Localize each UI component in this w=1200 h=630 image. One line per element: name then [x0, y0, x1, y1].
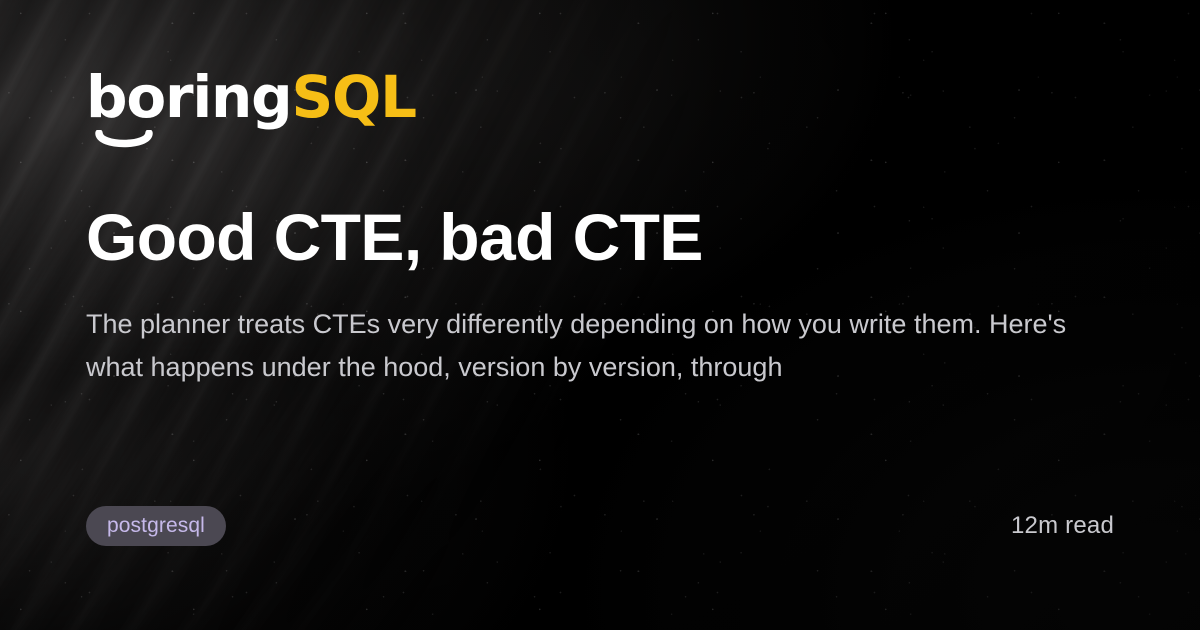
brand-name-primary: boring: [86, 63, 291, 131]
brand-logo-text: boringSQL: [86, 68, 416, 126]
read-time-label: 12m read: [1011, 512, 1114, 540]
brand-logo[interactable]: boringSQL: [86, 68, 416, 126]
article-description: The planner treats CTEs very differently…: [86, 303, 1116, 388]
card-footer: postgresql 12m read: [86, 506, 1114, 546]
brand-name-accent: SQL: [291, 63, 415, 131]
tag-badge-postgresql[interactable]: postgresql: [86, 506, 226, 546]
og-card: boringSQL Good CTE, bad CTE The planner …: [0, 0, 1200, 630]
page-title: Good CTE, bad CTE: [86, 203, 703, 272]
smile-arc-icon: [95, 130, 153, 152]
card-content: boringSQL Good CTE, bad CTE The planner …: [0, 0, 1200, 630]
